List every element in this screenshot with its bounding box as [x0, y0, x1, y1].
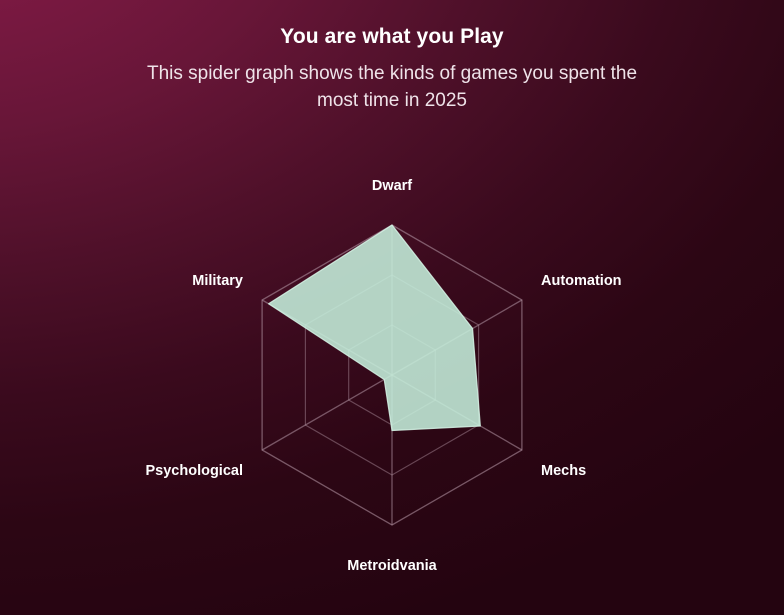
- axis-label-dwarf: Dwarf: [372, 178, 412, 194]
- radar-data-area[interactable]: [269, 225, 481, 431]
- axis-label-automation: Automation: [541, 273, 622, 289]
- axis-label-metroidvania: Metroidvania: [347, 558, 437, 574]
- axis-label-military: Military: [192, 273, 243, 289]
- axis-label-mechs: Mechs: [541, 463, 586, 479]
- radar-axis-psychological: [262, 375, 392, 450]
- radar-chart: DwarfAutomationMechsMetroidvaniaPsycholo…: [0, 0, 784, 615]
- chart-page: You are what you Play This spider graph …: [0, 0, 784, 615]
- radar-chart-svg: DwarfAutomationMechsMetroidvaniaPsycholo…: [0, 0, 784, 615]
- axis-label-psychological: Psychological: [145, 463, 243, 479]
